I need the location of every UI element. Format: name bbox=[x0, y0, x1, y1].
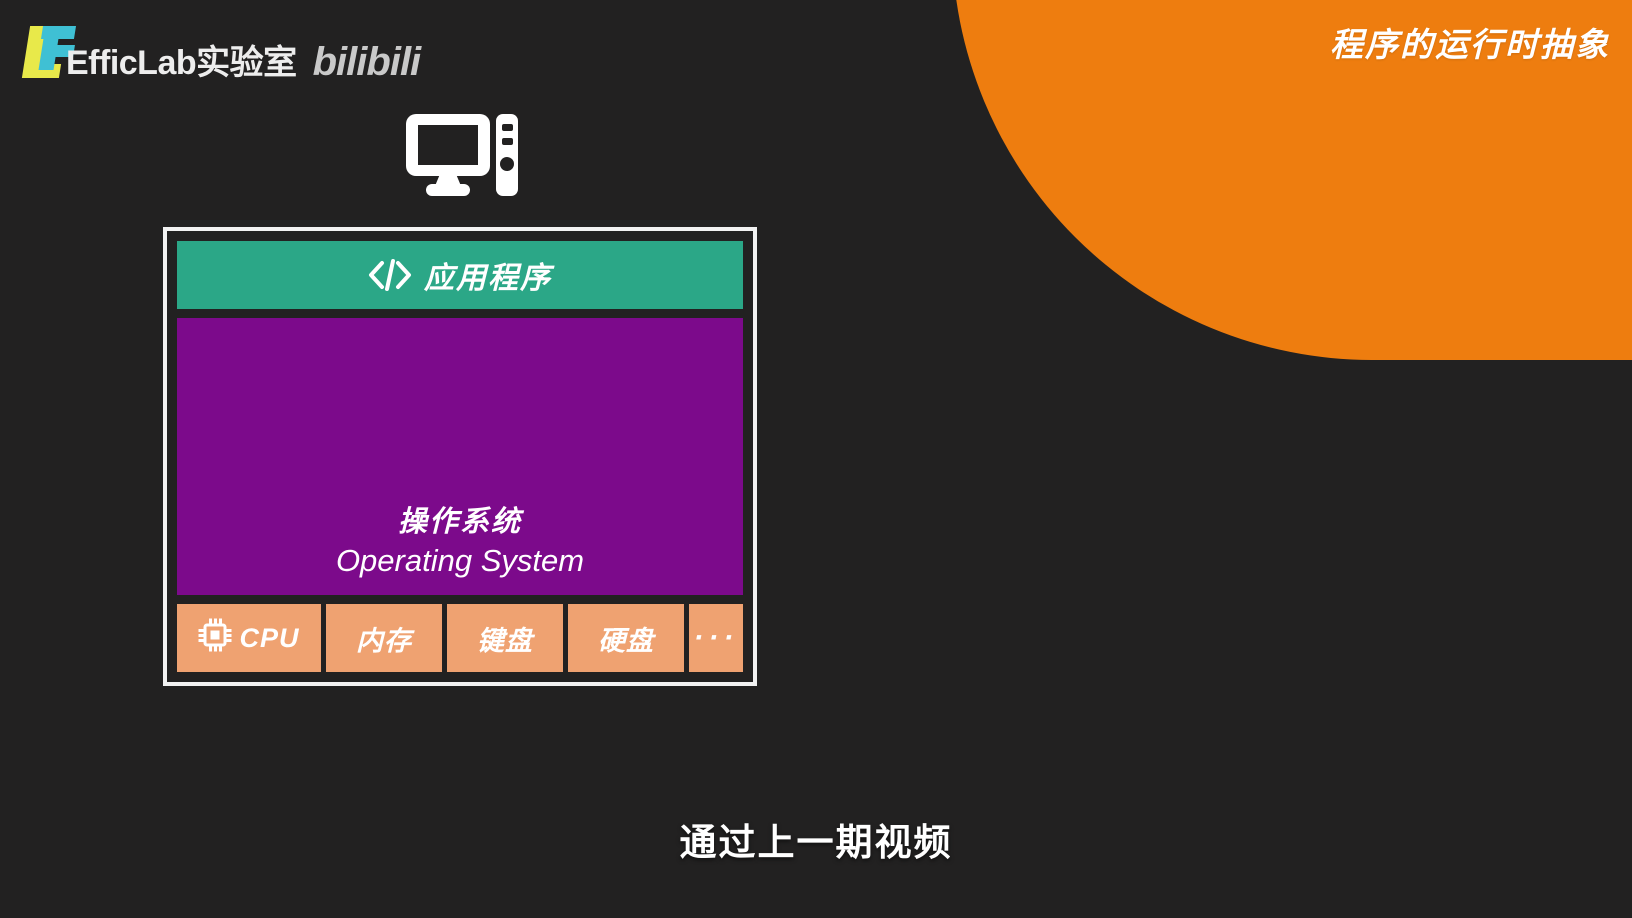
bilibili-logo: bilibili bbox=[313, 42, 421, 84]
cpu-chip-icon bbox=[198, 618, 232, 659]
hardware-label: 内存 bbox=[356, 619, 412, 658]
hardware-item-disk: 硬盘 bbox=[568, 604, 684, 672]
brand-logo: EfficLab实验室 bilibili bbox=[22, 12, 420, 84]
hardware-label: 键盘 bbox=[477, 619, 533, 658]
hardware-layer: CPU 内存 键盘 硬盘 ··· bbox=[177, 604, 743, 672]
hardware-label: ··· bbox=[694, 621, 739, 655]
os-label-chinese: 操作系统 bbox=[398, 504, 522, 540]
subtitle-caption: 通过上一期视频 bbox=[0, 812, 1632, 866]
brand-name: EfficLab实验室 bbox=[66, 46, 297, 84]
computer-stack-diagram: 应用程序 操作系统 Operating System bbox=[163, 227, 757, 686]
hardware-item-more: ··· bbox=[689, 604, 743, 672]
hardware-label: CPU bbox=[239, 623, 299, 654]
code-brackets-icon bbox=[368, 259, 412, 291]
banner-title: 程序的运行时抽象 bbox=[1330, 18, 1610, 66]
application-layer: 应用程序 bbox=[177, 241, 743, 309]
desktop-computer-icon bbox=[406, 114, 518, 196]
application-layer-label: 应用程序 bbox=[424, 253, 552, 297]
hardware-item-keyboard: 键盘 bbox=[447, 604, 563, 672]
hardware-item-cpu: CPU bbox=[177, 604, 321, 672]
operating-system-layer: 操作系统 Operating System bbox=[177, 318, 743, 595]
os-label-english: Operating System bbox=[336, 541, 584, 581]
hardware-item-memory: 内存 bbox=[326, 604, 442, 672]
hardware-label: 硬盘 bbox=[598, 619, 654, 658]
